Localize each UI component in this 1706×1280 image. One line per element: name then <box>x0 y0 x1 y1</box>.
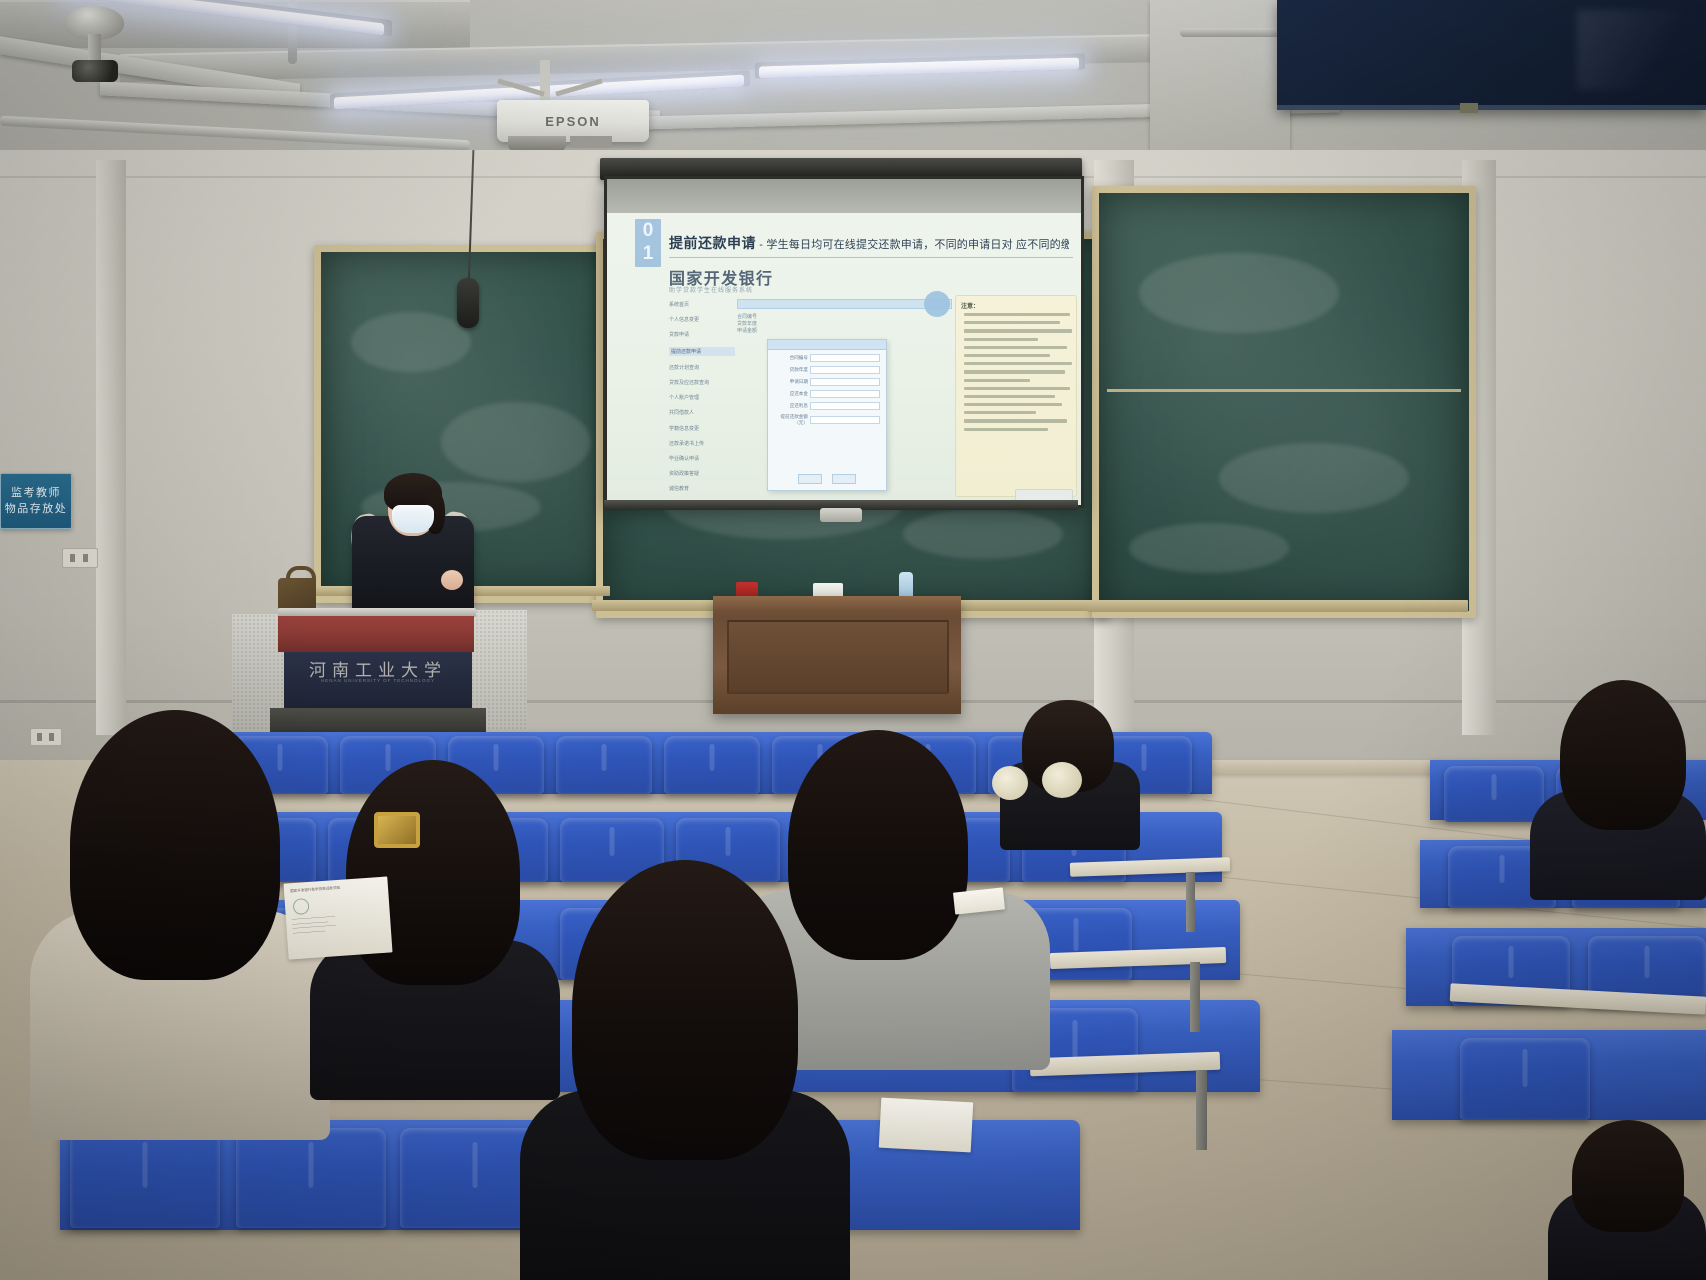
dialog-row: 合同编号 <box>774 354 880 362</box>
seat[interactable] <box>556 736 652 794</box>
nav-item: 毕业确认申请 <box>669 455 735 462</box>
podium-nameplate-panel: 河南工业大学 HENAN UNIVERSITY OF TECHNOLOGY <box>284 652 472 708</box>
form-search-bar <box>737 299 952 309</box>
dialog-value <box>810 378 880 386</box>
ceiling-beam-4 <box>1150 0 1290 150</box>
student <box>1530 680 1706 890</box>
slide-dialog: 合同编号 贷款年度 申请日期 应还本金 应还利息 <box>767 339 887 491</box>
dialog-row: 应还利息 <box>774 402 880 410</box>
wall-column-left <box>96 160 126 735</box>
dialog-confirm-button[interactable] <box>798 474 822 484</box>
classroom-photo: EPSON 监考教师 物品存放处 <box>0 0 1706 1280</box>
wall-television[interactable] <box>1277 0 1706 110</box>
nav-item: 诚信教育 <box>669 485 735 492</box>
paper-text-body: ————————————————————————————————————————… <box>292 911 385 936</box>
slide-heading: 提前还款申请 <box>669 235 756 251</box>
nav-item: 还款承诺书上传 <box>669 440 735 447</box>
student <box>1548 1120 1706 1280</box>
dialog-key: 应还本金 <box>774 391 808 397</box>
hair-clip-icon <box>374 812 420 848</box>
desk-front-panel <box>727 620 949 694</box>
tv-glare <box>1577 10 1697 90</box>
dialog-value <box>810 402 880 410</box>
nav-item: 系统首页 <box>669 301 735 308</box>
hanging-microphone <box>457 278 479 328</box>
slide-note-panel: 注意： <box>955 295 1077 497</box>
student-hair <box>572 860 798 1160</box>
sign-line-2: 物品存放处 <box>5 501 68 517</box>
student <box>520 860 850 1280</box>
nav-item: 共同借款人 <box>669 409 735 416</box>
dialog-cancel-button[interactable] <box>832 474 856 484</box>
nav-item: 还款计划查询 <box>669 364 735 371</box>
nav-item-selected: 提前还款申请 <box>669 347 735 356</box>
projector-brand-label: EPSON <box>497 114 649 129</box>
blackboard-right <box>1092 186 1476 618</box>
projector-lens <box>508 136 566 151</box>
podium-front-red-panel <box>278 616 474 652</box>
sign-line-1: 监考教师 <box>11 485 61 501</box>
bank-subtitle-label: 助学贷款学生在线服务系统 <box>669 285 753 294</box>
dialog-value <box>810 354 880 362</box>
paper-text: 国家开发银行助学贷款还款须知 <box>290 883 382 894</box>
note-title: 注意： <box>961 301 1076 310</box>
seat[interactable] <box>1444 766 1544 822</box>
desk-top-edge <box>713 596 961 609</box>
student <box>30 710 330 1130</box>
dialog-key: 合同编号 <box>774 355 808 361</box>
dialog-value <box>810 366 880 374</box>
slide-subheading: 学生每日均可在线提交还款申请，不同的申请日对 应不同的缴息日 <box>766 239 1069 251</box>
dialog-row: 提前还款金额（元） <box>774 414 880 426</box>
nav-item: 个人信息变更 <box>669 316 735 323</box>
teacher-desk <box>713 596 961 714</box>
dialog-header <box>768 340 886 350</box>
student-hair <box>70 710 280 980</box>
handout-paper[interactable]: 国家开发银行助学贷款还款须知 —————————————————————————… <box>283 876 392 959</box>
screen-top-strip <box>607 179 1081 215</box>
camera-head-icon <box>72 60 118 82</box>
slide-form-area: 合同编号 贷款年度 申请金额 <box>737 299 952 334</box>
nav-item: 贷款及应还款查询 <box>669 379 735 386</box>
student-hair <box>1572 1120 1684 1232</box>
seat[interactable] <box>1460 1038 1590 1120</box>
dialog-buttons <box>768 474 886 484</box>
dialog-row: 贷款年度 <box>774 366 880 374</box>
slide-nav-column: 系统首页 个人信息变更 贷款申请 提前还款申请 还款计划查询 贷款及应还款查询 … <box>669 301 735 505</box>
nav-item: 个人账户管理 <box>669 394 735 401</box>
podium-university-name-en: HENAN UNIVERSITY OF TECHNOLOGY <box>284 678 472 683</box>
projection-screen: 0 1 提前还款申请 - 学生每日均可在线提交还款申请，不同的申请日对 应不同的… <box>604 176 1084 508</box>
badge-digit-bottom: 1 <box>635 242 661 265</box>
slide-heading-dash: - <box>759 239 763 251</box>
seat[interactable] <box>70 1128 220 1228</box>
form-label: 贷款年度 <box>737 320 952 327</box>
desk-leg <box>1190 962 1200 1032</box>
paper-stamp-icon <box>293 898 310 915</box>
speaker-hand <box>441 570 463 590</box>
power-outlet-upper[interactable] <box>62 548 98 568</box>
nav-item: 贷款申请 <box>669 331 735 338</box>
dialog-row: 应还本金 <box>774 390 880 398</box>
dialog-row: 申请日期 <box>774 378 880 386</box>
wall-sign-proctor-storage: 监考教师 物品存放处 <box>0 473 72 529</box>
slide-highlight-circle <box>924 291 950 317</box>
nav-item: 学籍信息变更 <box>669 425 735 432</box>
face-mask-icon <box>392 505 434 533</box>
desk-leg <box>1196 1070 1207 1150</box>
desk-leg <box>1186 872 1195 932</box>
slide-section-badge: 0 1 <box>635 219 661 267</box>
handout-paper[interactable] <box>879 1098 973 1153</box>
tv-mount-bracket <box>1460 103 1478 113</box>
dialog-value <box>810 416 880 424</box>
slide-title: 提前还款申请 - 学生每日均可在线提交还款申请，不同的申请日对 应不同的缴息日 <box>669 233 1069 253</box>
dialog-value <box>810 390 880 398</box>
nav-item: 资助政策答疑 <box>669 470 735 477</box>
projection-screen-handle[interactable] <box>820 508 862 522</box>
projector-lens-secondary <box>570 136 612 148</box>
dialog-key: 提前还款金额（元） <box>774 414 808 426</box>
presentation-slide: 0 1 提前还款申请 - 学生每日均可在线提交还款申请，不同的申请日对 应不同的… <box>607 213 1081 505</box>
dialog-key: 应还利息 <box>774 403 808 409</box>
form-label: 合同编号 <box>737 313 952 320</box>
slide-divider <box>669 257 1073 258</box>
seat[interactable] <box>236 1128 386 1228</box>
student-hair <box>1560 680 1686 830</box>
chalk-rail-right <box>1088 600 1468 612</box>
dialog-key: 申请日期 <box>774 379 808 385</box>
badge-digit-top: 0 <box>635 219 661 242</box>
form-label: 申请金额 <box>737 327 952 334</box>
dialog-key: 贷款年度 <box>774 367 808 373</box>
